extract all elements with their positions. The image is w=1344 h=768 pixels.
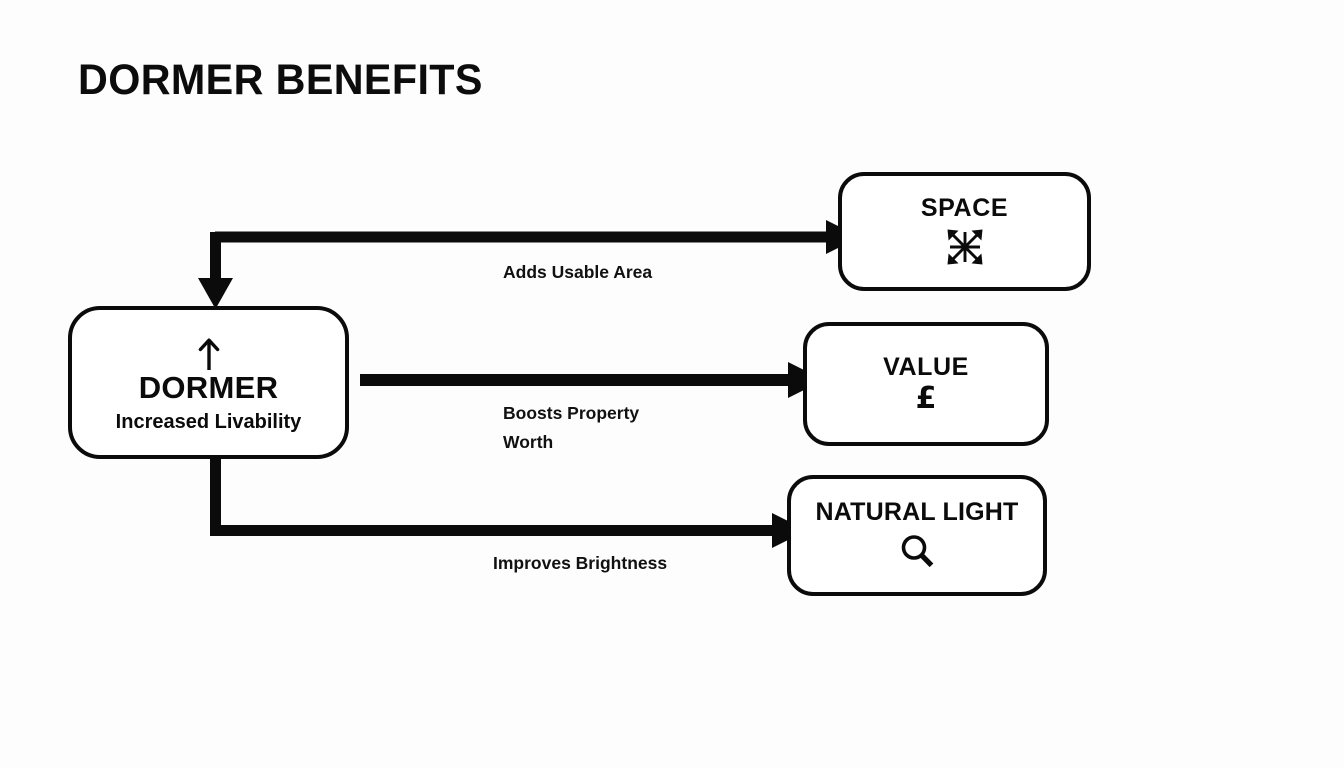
diagram-canvas: DORMER BENEFITS: [0, 0, 1344, 768]
pound-sterling-icon: £: [916, 384, 937, 414]
magnifying-glass-icon: [896, 530, 938, 572]
node-space[interactable]: SPACE: [838, 172, 1091, 291]
node-value-title: VALUE: [883, 355, 969, 380]
node-natural-light-title: NATURAL LIGHT: [815, 500, 1018, 525]
node-space-icon-wrap: [944, 226, 986, 268]
connector-dormer-to-natural-light: [210, 456, 807, 548]
node-space-title: SPACE: [921, 196, 1008, 221]
arrow-up-icon: [198, 337, 220, 371]
node-dormer-subtitle: Increased Livability: [116, 411, 302, 434]
expand-arrows-icon: [944, 226, 986, 268]
node-natural-light-icon-wrap: [896, 530, 938, 572]
node-dormer[interactable]: DORMER Increased Livability: [68, 306, 349, 459]
node-natural-light[interactable]: NATURAL LIGHT: [787, 475, 1047, 596]
node-value[interactable]: VALUE £: [803, 322, 1049, 446]
page-title: DORMER BENEFITS: [78, 58, 483, 103]
node-dormer-title: DORMER: [139, 372, 279, 403]
connector-dormer-to-value: [360, 362, 824, 398]
edge-label-dormer-to-natural-light: Improves Brightness: [493, 549, 667, 578]
edge-label-dormer-to-value: Boosts Property Worth: [503, 399, 639, 457]
edge-label-dormer-to-space: Adds Usable Area: [503, 258, 652, 287]
